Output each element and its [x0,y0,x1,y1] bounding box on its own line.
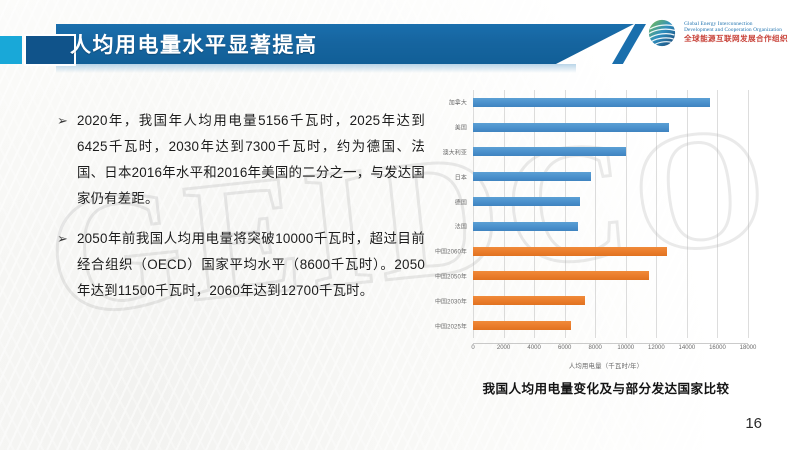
chart-bar-row: 澳大利亚 [473,140,748,165]
chart-x-axis-label: 人均用电量（千瓦时/年） [430,361,782,370]
chart-bar-rows: 加拿大美国澳大利亚日本德国法国中国2060年中国2050年中国2030年中国20… [473,90,748,338]
chart-x-tick: 6000 [558,345,571,351]
chart-x-tick: 2000 [497,345,510,351]
logo-text-block: Global Energy Interconnection Developmen… [684,22,788,44]
chart-category-label: 德国 [455,197,467,206]
header-band-shadow [56,64,576,73]
bullet-marker-icon: ➢ [55,108,77,212]
page-title: 人均用电量水平显著提高 [70,26,318,62]
chart-bar-row: 法国 [473,214,748,239]
chart-x-tick: 0 [471,345,474,351]
chart-category-label: 日本 [455,172,467,181]
chart-bar-row: 德国 [473,189,748,214]
chart-category-label: 中国2050年 [435,271,467,280]
chart-gridline [748,90,749,338]
bullet-text: 2050年前我国人均用电量将突破10000千瓦时，超过目前经合组织（OECD）国… [77,226,425,304]
chart-category-label: 美国 [455,123,467,132]
bullet-item: ➢ 2050年前我国人均用电量将突破10000千瓦时，超过目前经合组织（OECD… [55,226,425,304]
globe-logo-icon [647,18,677,48]
chart-bar [473,123,669,132]
chart-bar-row: 中国2060年 [473,239,748,264]
chart-bar-row: 日本 [473,164,748,189]
decoration-square-navy [24,34,76,66]
chart-bar [473,247,667,256]
logo-cn-line: 全球能源互联网发展合作组织 [684,35,788,44]
chart-bar-row: 中国2050年 [473,264,748,289]
bullet-text: 2020年，我国年人均用电量5156千瓦时，2025年达到6425千瓦时，203… [77,108,425,212]
bullet-item: ➢ 2020年，我国年人均用电量5156千瓦时，2025年达到6425千瓦时，2… [55,108,425,212]
chart-x-tick: 14000 [679,345,696,351]
chart-category-label: 加拿大 [449,98,467,107]
chart-bar [473,222,578,231]
chart-x-tick: 4000 [527,345,540,351]
chart-bar [473,197,580,206]
slide: GEIDCO 人均用电量水平显著提高 [0,0,800,450]
chart-category-label: 澳大利亚 [443,147,467,156]
chart-bar-row: 中国2030年 [473,288,748,313]
chart-x-axis-line [473,343,748,344]
chart-category-label: 中国2060年 [435,247,467,256]
chart-category-label: 中国2030年 [435,296,467,305]
chart-plot-area: 加拿大美国澳大利亚日本德国法国中国2060年中国2050年中国2030年中国20… [473,90,748,338]
chart-x-tick: 16000 [709,345,726,351]
bar-chart: 加拿大美国澳大利亚日本德国法国中国2060年中国2050年中国2030年中国20… [430,86,782,366]
logo-en-line-2: Development and Cooperation Organization [684,28,788,34]
page-number: 16 [745,415,762,432]
chart-bar [473,147,626,156]
chart-x-tick: 12000 [648,345,665,351]
body-bullet-list: ➢ 2020年，我国年人均用电量5156千瓦时，2025年达到6425千瓦时，2… [55,108,425,318]
decoration-square-cyan [0,36,22,64]
chart-bar [473,172,591,181]
chart-category-label: 法国 [455,222,467,231]
chart-bar-row: 加拿大 [473,90,748,115]
chart-x-tick: 10000 [617,345,634,351]
chart-bar-row: 中国2025年 [473,313,748,338]
chart-x-tick: 18000 [740,345,757,351]
bullet-marker-icon: ➢ [55,226,77,304]
chart-bar [473,271,649,280]
chart-caption: 我国人均用电量变化及与部分发达国家比较 [430,378,782,397]
chart-bar [473,321,571,330]
chart-bar [473,98,710,107]
chart-bar-row: 美国 [473,115,748,140]
chart-x-tick-labels: 0200040006000800010000120001400016000180… [473,345,748,357]
chart-bar [473,296,585,305]
chart-x-tick: 8000 [589,345,602,351]
chart-category-label: 中国2025年 [435,321,467,330]
organization-logo: Global Energy Interconnection Developmen… [647,18,788,48]
